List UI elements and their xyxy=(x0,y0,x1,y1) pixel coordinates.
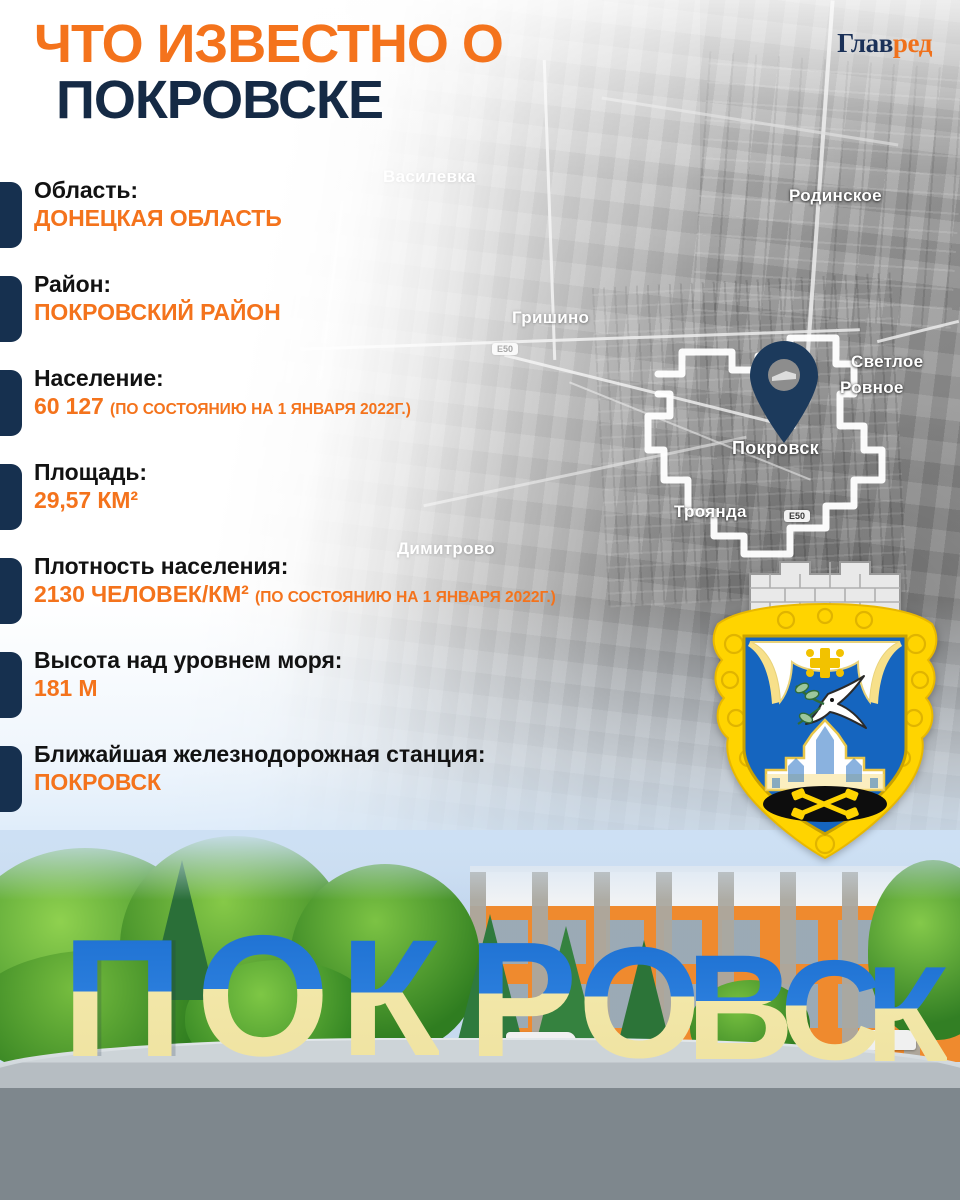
fact-value-text: 60 127 xyxy=(34,393,104,419)
fact-value: ПОКРОВСК xyxy=(34,768,720,797)
bullet-marker-icon xyxy=(0,370,22,436)
fact-item-region: Область: ДОНЕЦКАЯ ОБЛАСТЬ xyxy=(0,176,720,244)
title-line-1: ЧТО ИЗВЕСТНО О xyxy=(34,16,503,72)
fact-value: 181 М xyxy=(34,674,720,703)
fact-label: Ближайшая железнодорожная станция: xyxy=(34,740,720,768)
fact-label: Район: xyxy=(34,270,720,298)
brand-part-2: ред xyxy=(893,28,932,58)
fact-label: Область: xyxy=(34,176,720,204)
sign-letter-v: В xyxy=(686,932,792,1082)
fact-note: (ПО СОСТОЯНИЮ НА 1 ЯНВАРЯ 2022Г.) xyxy=(255,589,556,606)
coat-of-arms-icon xyxy=(700,552,950,868)
fact-label: Площадь: xyxy=(34,458,720,486)
infographic-poster: E50 E50 Василевка Родинское Гришино Свет… xyxy=(0,0,960,1200)
fact-value: 2130 ЧЕЛОВЕК/КМ² (ПО СОСТОЯНИЮ НА 1 ЯНВА… xyxy=(34,580,720,609)
sign-letter-k2: К xyxy=(866,946,947,1082)
cross-icon xyxy=(806,648,844,678)
fact-item-elevation: Высота над уровнем моря: 181 М xyxy=(0,646,720,714)
bullet-marker-icon xyxy=(0,464,22,530)
fact-value: 29,57 КМ² xyxy=(34,486,720,515)
map-pin-icon xyxy=(746,340,822,444)
fact-item-district: Район: ПОКРОВСКИЙ РАЙОН xyxy=(0,270,720,338)
fact-note: (ПО СОСТОЯНИЮ НА 1 ЯНВАРЯ 2022Г.) xyxy=(110,401,411,418)
bullet-marker-icon xyxy=(0,276,22,342)
fact-label: Высота над уровнем моря: xyxy=(34,646,720,674)
fact-label: Плотность населения: xyxy=(34,552,720,580)
bullet-marker-icon xyxy=(0,182,22,248)
fact-value: ДОНЕЦКАЯ ОБЛАСТЬ xyxy=(34,204,720,233)
fact-value: ПОКРОВСКИЙ РАЙОН xyxy=(34,298,720,327)
brand-part-1: Глав xyxy=(837,28,893,58)
page-title: ЧТО ИЗВЕСТНО О ПОКРОВСКЕ xyxy=(34,16,503,128)
fact-list: Область: ДОНЕЦКАЯ ОБЛАСТЬ Район: ПОКРОВС… xyxy=(0,176,720,834)
fact-item-railway-station: Ближайшая железнодорожная станция: ПОКРО… xyxy=(0,740,720,808)
bullet-marker-icon xyxy=(0,558,22,624)
sign-letter-p: П xyxy=(62,914,181,1082)
bullet-marker-icon xyxy=(0,746,22,812)
sign-letter-o1: О xyxy=(196,910,328,1082)
map-label-svetloe: Светлое xyxy=(851,352,923,372)
road-shield-e50: E50 xyxy=(784,510,810,522)
sign-letter-o2: О xyxy=(578,924,699,1082)
city-name-sign: П П О К Р О В С К xyxy=(0,907,960,1082)
bullet-marker-icon xyxy=(0,652,22,718)
fact-item-population: Население: 60 127 (ПО СОСТОЯНИЮ НА 1 ЯНВ… xyxy=(0,364,720,432)
map-label-rovnoe: Ровное xyxy=(840,378,904,398)
fact-value-text: 2130 ЧЕЛОВЕК/КМ² xyxy=(34,581,249,607)
sign-letter-r: Р xyxy=(468,918,575,1082)
sign-letter-k1: К xyxy=(340,916,439,1082)
brand-logo-glavred[interactable]: Главред xyxy=(837,28,932,59)
city-entrance-photo: П П О К Р О В С К xyxy=(0,830,960,1200)
map-label-rodinskoe: Родинское xyxy=(789,186,882,206)
fact-item-area: Площадь: 29,57 КМ² xyxy=(0,458,720,526)
fact-item-density: Плотность населения: 2130 ЧЕЛОВЕК/КМ² (П… xyxy=(0,552,720,620)
title-line-2: ПОКРОВСКЕ xyxy=(56,72,503,128)
fact-value: 60 127 (ПО СОСТОЯНИЮ НА 1 ЯНВАРЯ 2022Г.) xyxy=(34,392,720,421)
crossed-hammers-icon xyxy=(763,786,887,822)
fact-label: Население: xyxy=(34,364,720,392)
